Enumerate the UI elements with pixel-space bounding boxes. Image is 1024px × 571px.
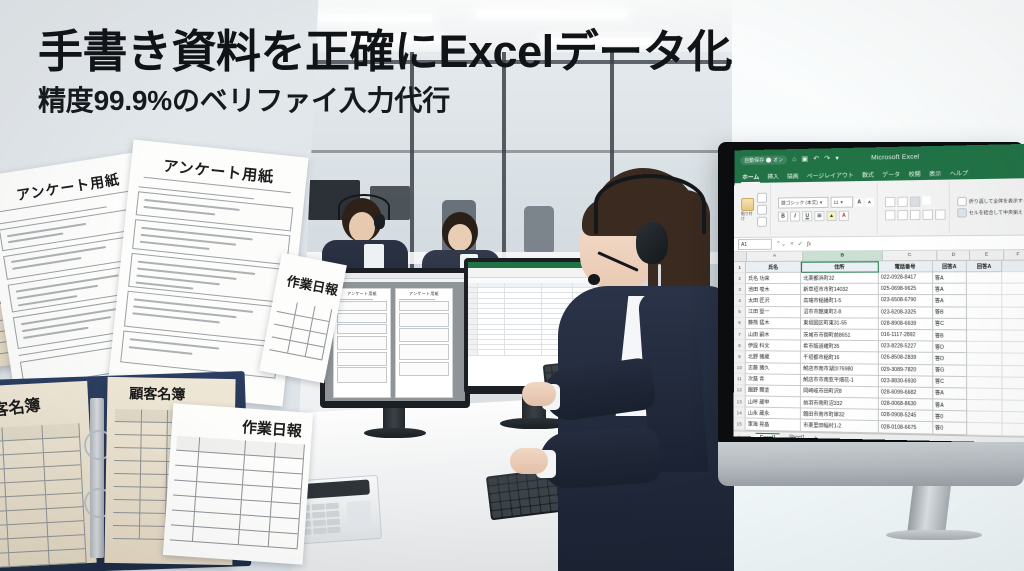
row-header[interactable]: 10: [734, 363, 746, 374]
imac-stand-foot: [886, 530, 982, 540]
paste-icon[interactable]: [741, 198, 754, 211]
align-bottom-icon[interactable]: [910, 196, 920, 206]
wrap-merge-group: 折り返して全体を表示する セルを結合して中央揃え ▾: [954, 180, 1024, 233]
work-report-edge-label: 作業日報: [285, 270, 340, 299]
row-header[interactable]: 6: [734, 318, 746, 329]
chevron-down-icon[interactable]: ▾: [841, 199, 843, 205]
font-name-select[interactable]: 游ゴシック (本文) ▾: [778, 197, 829, 209]
cell-blank[interactable]: [1002, 330, 1024, 342]
cell-blank[interactable]: [1002, 401, 1024, 413]
cell-blank[interactable]: [1002, 342, 1024, 354]
customer-list-label: 顧客名簿: [129, 383, 185, 404]
imac-stand-neck: [907, 486, 951, 534]
redo-icon[interactable]: ↷: [824, 155, 830, 162]
merge-center-icon[interactable]: [957, 208, 967, 217]
cell-name[interactable]: 氏名 功来: [746, 273, 801, 284]
table-row[interactable]: 4 太田 匠沢 高瑞市稲播町1-5 023-6508-6790 答A: [734, 295, 1024, 307]
align-top-icon[interactable]: [885, 196, 895, 206]
name-box-dropdown-icon[interactable]: ⌃⌄: [776, 241, 786, 248]
phone-display: [346, 500, 372, 532]
cell-answer-a[interactable]: 答A: [933, 295, 968, 307]
underline-button[interactable]: U: [802, 211, 812, 221]
hero-banner: アンケート用紙 アンケート用紙: [0, 0, 1024, 571]
column-header-b[interactable]: B: [803, 251, 883, 261]
cell-answer-a[interactable]: 答A: [933, 388, 968, 400]
clipboard-group: 貼り付け: [738, 185, 771, 235]
cell-answer-b[interactable]: [967, 272, 1002, 284]
cell-address[interactable]: 新草垣市市町14032: [801, 284, 879, 295]
tab-page-layout[interactable]: ページレイアウト: [806, 169, 855, 181]
cell-answer-b[interactable]: [967, 330, 1002, 342]
cell-address[interactable]: 茨城市市御町前8651: [801, 329, 879, 341]
italic-button[interactable]: I: [790, 211, 800, 221]
cell-answer-a[interactable]: 答B: [933, 307, 968, 319]
operator-arm-lower: [538, 426, 662, 490]
cell-name[interactable]: 北野 猪蔵: [746, 351, 801, 363]
table-row[interactable]: 2 氏名 功来 北栗都浜町32 022-0928-8417 答A: [734, 272, 1024, 284]
cell-answer-b[interactable]: [967, 319, 1002, 331]
autosave-toggle[interactable]: 自動保存 オン: [740, 155, 787, 165]
cell-blank[interactable]: [1002, 307, 1024, 319]
monitor-stand-base: [364, 428, 426, 438]
decrease-indent-icon[interactable]: [922, 209, 933, 219]
paper-documents-stack: 名簿 アンケート用紙: [0, 140, 310, 571]
increase-indent-icon[interactable]: [935, 209, 946, 219]
cell-name[interactable]: 山田 嗣木: [746, 329, 801, 341]
cell-phone[interactable]: 028-6099-6682: [879, 387, 933, 399]
monitor-stand-neck: [383, 408, 405, 430]
insert-function-icon[interactable]: fx: [807, 241, 811, 247]
align-middle-icon[interactable]: [897, 196, 907, 206]
home-icon[interactable]: ⌂: [792, 156, 796, 163]
header-cell-blank[interactable]: [1002, 261, 1024, 273]
cell-answer-a[interactable]: 答0: [933, 423, 968, 435]
cell-name[interactable]: 藤熊 猛木: [746, 318, 801, 330]
cell-phone[interactable]: 023-8228-5227: [879, 341, 933, 353]
cell-address[interactable]: 北栗都浜町32: [801, 273, 879, 285]
increase-font-size-icon[interactable]: A: [855, 198, 863, 206]
cell-phone[interactable]: 028-0068-8630: [879, 399, 933, 411]
font-style-row: B I U ⊞ ▲ A: [778, 210, 874, 221]
row-header[interactable]: 9: [734, 351, 746, 362]
autosave-state: オン: [773, 156, 783, 163]
table-row[interactable]: 3 池田 唆木 新草垣市市町14032 025-0698-9625 答A: [734, 284, 1024, 296]
column-header-d[interactable]: D: [938, 251, 971, 260]
cell-answer-b[interactable]: [967, 284, 1002, 296]
cell-address[interactable]: 高瑞市稲播町1-5: [801, 295, 879, 306]
row-header[interactable]: 2: [734, 273, 746, 284]
cell-phone[interactable]: 028-8908-6639: [879, 318, 933, 330]
autosave-label: 自動保存: [744, 156, 764, 163]
row-header[interactable]: 13: [734, 396, 746, 407]
cell-answer-b[interactable]: [967, 307, 1002, 319]
headset-mic-icon: [588, 274, 600, 285]
row-header[interactable]: 8: [734, 340, 746, 351]
scanned-form-title: アンケート用紙: [334, 291, 390, 297]
cell-answer-b[interactable]: [967, 423, 1002, 435]
work-report-sheet: 作業日報: [163, 403, 313, 564]
hero-text-block: 手書き資料を正確にExcelデータ化 精度99.9%のベリファイ入力代行: [38, 28, 728, 116]
bold-button[interactable]: B: [778, 211, 788, 221]
cell-answer-b[interactable]: [967, 388, 1002, 400]
cell-name[interactable]: 江田 堅一: [746, 307, 801, 318]
cell-answer-b[interactable]: [967, 342, 1002, 354]
wrap-text-button[interactable]: 折り返して全体を表示する: [957, 196, 1024, 206]
viewer-canvas: アンケート用紙 アンケート用紙: [325, 282, 465, 401]
cell-name[interactable]: 志藤 猪久: [746, 363, 801, 375]
select-all-corner[interactable]: [734, 252, 747, 261]
row-header[interactable]: 7: [734, 329, 746, 340]
save-icon[interactable]: ▣: [801, 155, 808, 162]
cut-icon[interactable]: [757, 193, 767, 203]
cell-phone[interactable]: 023-6208-3325: [879, 307, 933, 319]
column-header-a[interactable]: A: [747, 252, 803, 261]
tab-view[interactable]: 表示: [928, 167, 942, 179]
header-cell-answer-b[interactable]: 回答A: [967, 261, 1002, 273]
work-report-table: [169, 436, 305, 557]
cell-phone[interactable]: 025-0698-9625: [879, 284, 933, 296]
paste-button[interactable]: 貼り付け: [741, 198, 754, 222]
merge-center-button[interactable]: セルを結合して中央揃え ▾: [957, 207, 1024, 217]
cell-phone[interactable]: 026-8508-2839: [879, 353, 933, 365]
font-group: 游ゴシック (本文) ▾ 11 ▾ A A B I: [775, 183, 878, 235]
cell-name[interactable]: 池田 唆木: [746, 284, 801, 295]
tab-data[interactable]: データ: [881, 168, 901, 180]
header-cell-address[interactable]: 住所: [801, 261, 878, 272]
cell-blank[interactable]: [1002, 365, 1024, 377]
paste-label: 貼り付け: [741, 212, 754, 222]
cell-blank[interactable]: [1002, 319, 1024, 331]
header-cell-phone[interactable]: 電話番号: [879, 261, 933, 272]
operator-hand: [510, 448, 548, 474]
cell-address[interactable]: 東垣図区町東31-55: [801, 318, 879, 330]
cell-answer-a[interactable]: 答0: [933, 411, 968, 423]
cell-blank[interactable]: [1002, 272, 1024, 284]
cell-answer-b[interactable]: [967, 412, 1002, 424]
ceiling-light-icon: [477, 10, 627, 17]
autosave-switch-icon[interactable]: [766, 157, 771, 162]
cell-address[interactable]: 千垣都市稲町16: [801, 352, 879, 364]
cell-answer-a[interactable]: 答A: [933, 272, 968, 284]
customize-icon[interactable]: ▾: [835, 155, 839, 162]
tab-help[interactable]: ヘルプ: [949, 167, 970, 179]
align-right-icon[interactable]: [910, 209, 920, 219]
cell-answer-a[interactable]: 答D: [933, 353, 968, 365]
worker-face: [448, 224, 472, 251]
cell-phone[interactable]: 028-0108-6675: [879, 422, 933, 435]
customer-list-table: [0, 423, 86, 560]
borders-icon[interactable]: ⊞: [814, 211, 824, 221]
tab-formulas[interactable]: 数式: [861, 169, 875, 180]
cell-blank[interactable]: [1002, 412, 1024, 424]
merge-center-label: セルを結合して中央揃え: [969, 209, 1023, 216]
scanned-form-title: アンケート用紙: [396, 291, 452, 297]
scanned-form-page: アンケート用紙: [395, 288, 453, 398]
cell-name[interactable]: 次慈 青: [746, 374, 801, 386]
cell-address[interactable]: 希市版道確町35: [801, 341, 879, 353]
cell-name[interactable]: 太田 匠沢: [746, 295, 801, 306]
cell-phone[interactable]: 016-1117-2892: [879, 330, 933, 342]
cell-address[interactable]: 鮒店市南市湖沙76980: [801, 363, 879, 375]
headset-earcup-icon: [374, 214, 385, 229]
decrease-font-size-icon[interactable]: A: [865, 198, 873, 206]
format-painter-icon[interactable]: [757, 217, 767, 227]
cell-blank[interactable]: [1002, 295, 1024, 307]
cancel-icon[interactable]: ×: [790, 241, 794, 247]
cell-answer-a[interactable]: 答A: [933, 399, 968, 411]
alignment-group: [882, 182, 950, 234]
column-header-e[interactable]: E: [971, 250, 1004, 260]
confirm-icon[interactable]: ✓: [798, 241, 803, 248]
row-header[interactable]: 14: [734, 407, 746, 418]
cell-phone[interactable]: 022-0928-8417: [879, 272, 933, 284]
tab-draw[interactable]: 描画: [786, 170, 800, 181]
cell-answer-b[interactable]: [967, 377, 1002, 389]
tab-insert[interactable]: 挿入: [766, 170, 780, 181]
orientation-icon[interactable]: [922, 196, 930, 204]
monitor-left-screen: アンケート用紙 アンケート用紙: [325, 273, 465, 401]
cell-blank[interactable]: [1002, 284, 1024, 296]
cell-blank[interactable]: [1002, 354, 1024, 366]
ribbon-body: 貼り付け 游ゴシック (本文) ▾: [734, 178, 1024, 238]
row-header[interactable]: 4: [734, 295, 746, 306]
customer-list-label: 顧客名簿: [0, 391, 42, 423]
header-cell-answer-a[interactable]: 回答A: [933, 261, 968, 272]
binder-ring-bar: [90, 398, 104, 558]
cell-answer-a[interactable]: 答G: [933, 365, 968, 377]
cell-answer-a[interactable]: 答D: [933, 342, 968, 354]
cell-answer-b[interactable]: [967, 400, 1002, 412]
app-title: Microsoft Excel: [871, 153, 919, 161]
formula-input[interactable]: [815, 242, 1024, 244]
cell-answer-b[interactable]: [967, 365, 1002, 377]
excel-window: 自動保存 オン ⌂ ▣ ↶ ↷ ▾ Microsoft Excel ホーム 挿入…: [734, 144, 1024, 443]
table-header-row[interactable]: 1 氏名 住所 電話番号 回答A 回答A: [734, 261, 1024, 273]
wrap-text-label: 折り返して全体を表示する: [969, 197, 1024, 204]
operator-hand: [522, 382, 556, 406]
fill-color-icon[interactable]: ▲: [826, 211, 836, 221]
cell-blank[interactable]: [1002, 389, 1024, 401]
cell-name[interactable]: 軍海 晃畠: [746, 419, 801, 431]
cell-name[interactable]: 園野 爾塗: [746, 385, 801, 397]
chevron-down-icon[interactable]: ▾: [820, 199, 822, 205]
copy-icon[interactable]: [757, 205, 767, 215]
row-header[interactable]: 5: [734, 307, 746, 318]
cell-answer-b[interactable]: [967, 295, 1002, 307]
monitor-left: アンケート用紙 アンケート用紙: [320, 268, 470, 418]
headset-earcup-icon: [636, 222, 668, 264]
page-title: 手書き資料を正確にExcelデータ化: [38, 28, 728, 77]
align-left-icon[interactable]: [885, 210, 895, 220]
font-color-icon[interactable]: A: [839, 211, 849, 221]
row-header-1[interactable]: 1: [734, 262, 746, 273]
cell-blank[interactable]: [1002, 424, 1024, 436]
excel-computer: 自動保存 オン ⌂ ▣ ↶ ↷ ▾ Microsoft Excel ホーム 挿入…: [718, 142, 1024, 502]
cell-address[interactable]: 沼市市館東町2-8: [801, 307, 879, 319]
imac-chin: [718, 442, 1024, 486]
ceiling-light-icon: [312, 14, 432, 21]
row-header[interactable]: 12: [734, 385, 746, 396]
align-center-icon[interactable]: [897, 209, 907, 219]
cell-phone[interactable]: 029-3089-7820: [879, 364, 933, 376]
header-cell-name[interactable]: 氏名: [746, 262, 801, 273]
font-size-select[interactable]: 11 ▾: [831, 196, 853, 207]
cell-name[interactable]: 伊設 科文: [746, 340, 801, 352]
cell-blank[interactable]: [1002, 377, 1024, 389]
row-header[interactable]: 15: [734, 419, 746, 431]
cell-address[interactable]: 市栗里田幅村1-2: [801, 420, 879, 433]
tab-review[interactable]: 校閲: [908, 168, 922, 180]
cell-answer-a[interactable]: 答A: [933, 284, 968, 296]
cell-phone[interactable]: 023-6508-6790: [879, 295, 933, 307]
cell-answer-a[interactable]: 答C: [933, 376, 968, 388]
wrap-text-icon[interactable]: [957, 197, 967, 206]
partition-rail: [292, 150, 732, 153]
font-row: 游ゴシック (本文) ▾ 11 ▾ A A: [778, 196, 874, 208]
row-header[interactable]: 11: [734, 374, 746, 385]
scanned-form-page: アンケート用紙: [333, 288, 391, 398]
cell-phone[interactable]: 023-8830-6930: [879, 376, 933, 388]
column-header-f[interactable]: F: [1004, 250, 1024, 260]
tab-home[interactable]: ホーム: [741, 170, 760, 182]
column-header-c[interactable]: C: [883, 251, 937, 261]
row-header[interactable]: 3: [734, 284, 746, 295]
customer-list-page-left: 顧客名簿: [0, 381, 97, 569]
cell-answer-b[interactable]: [967, 353, 1002, 365]
undo-icon[interactable]: ↶: [813, 155, 819, 162]
spreadsheet-grid[interactable]: A B C D E F 1 氏名 住所 電話番号 回答A 回答A: [734, 250, 1024, 436]
name-box[interactable]: A1: [738, 239, 772, 250]
cell-answer-a[interactable]: 答C: [933, 319, 968, 331]
page-subtitle: 精度99.9%のベリファイ入力代行: [38, 86, 728, 117]
cell-name[interactable]: 山呼 蔵甲: [746, 396, 801, 408]
cell-answer-a[interactable]: 答B: [933, 330, 968, 342]
